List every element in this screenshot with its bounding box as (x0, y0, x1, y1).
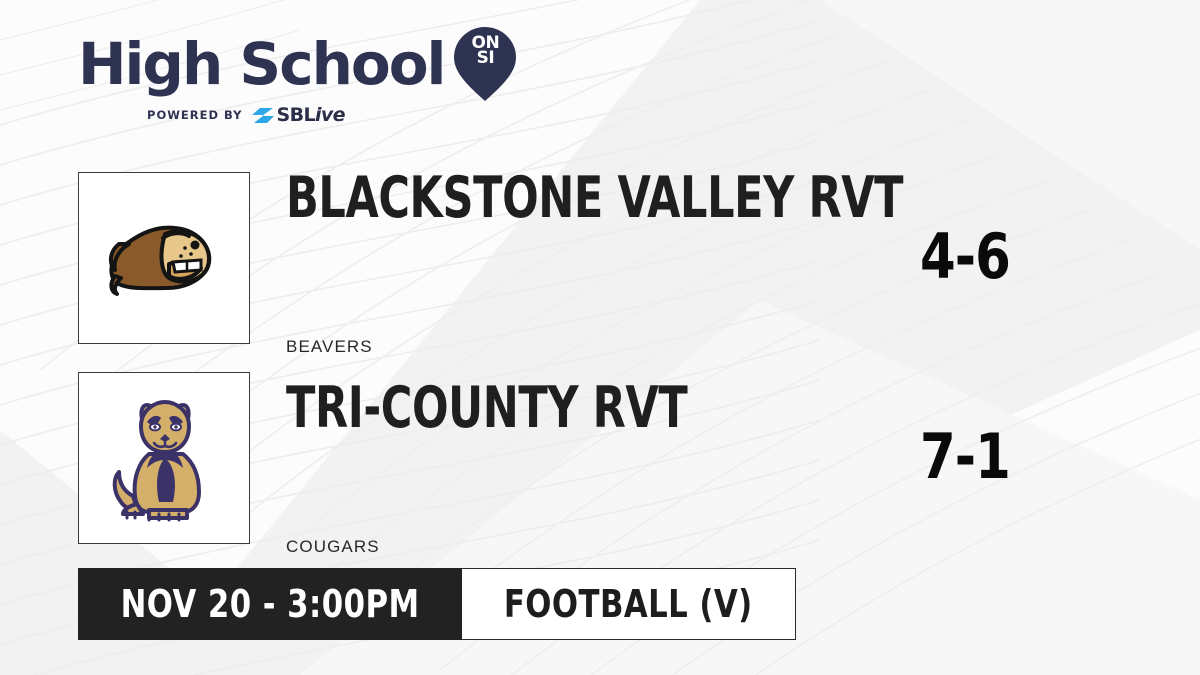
beaver-mascot-icon (99, 198, 229, 318)
team-name: TRI-COUNTY RVT (286, 378, 687, 438)
team-record: 4-6 (920, 226, 1010, 288)
sblive-name-secondary: ive (315, 106, 345, 125)
game-datetime-block: NOV 20 - 3:00PM (78, 568, 462, 640)
team-record: 7-1 (920, 426, 1010, 488)
on-si-pin-icon: ON SI (454, 27, 516, 101)
game-sport-block: FOOTBALL (V) (462, 568, 795, 640)
on-si-pin-label: ON SI (454, 36, 516, 66)
team-mascot: BEAVERS (286, 338, 373, 355)
brand-title: High School (78, 35, 444, 93)
team-row-away: TRI-COUNTY RVT COUGARS 7-1 (78, 372, 1138, 550)
graphic-canvas: High School ON SI POWERED BY SBL ive (0, 0, 1200, 675)
game-datetime: NOV 20 - 3:00PM (121, 585, 420, 623)
team-logo-box (78, 172, 250, 344)
sblive-s-icon (252, 107, 274, 124)
team-name: BLACKSTONE VALLEY RVT (286, 168, 903, 228)
team-row-home: BLACKSTONE VALLEY RVT BEAVERS 4-6 (78, 172, 1138, 350)
cougar-mascot-icon (103, 392, 225, 524)
game-info-bar: NOV 20 - 3:00PM FOOTBALL (V) (78, 568, 796, 640)
game-sport: FOOTBALL (V) (504, 585, 753, 623)
sblive-name-primary: SBL (277, 106, 315, 125)
powered-by-label: POWERED BY (147, 108, 242, 122)
brand-logo-row: High School ON SI (78, 28, 508, 100)
brand-logo: High School ON SI POWERED BY SBL ive (78, 28, 508, 138)
team-mascot: COUGARS (286, 538, 380, 555)
sblive-logo: SBL ive (252, 106, 345, 125)
powered-by-row: POWERED BY SBL ive (78, 104, 414, 126)
pin-label-bottom: SI (454, 51, 516, 66)
team-logo-box (78, 372, 250, 544)
